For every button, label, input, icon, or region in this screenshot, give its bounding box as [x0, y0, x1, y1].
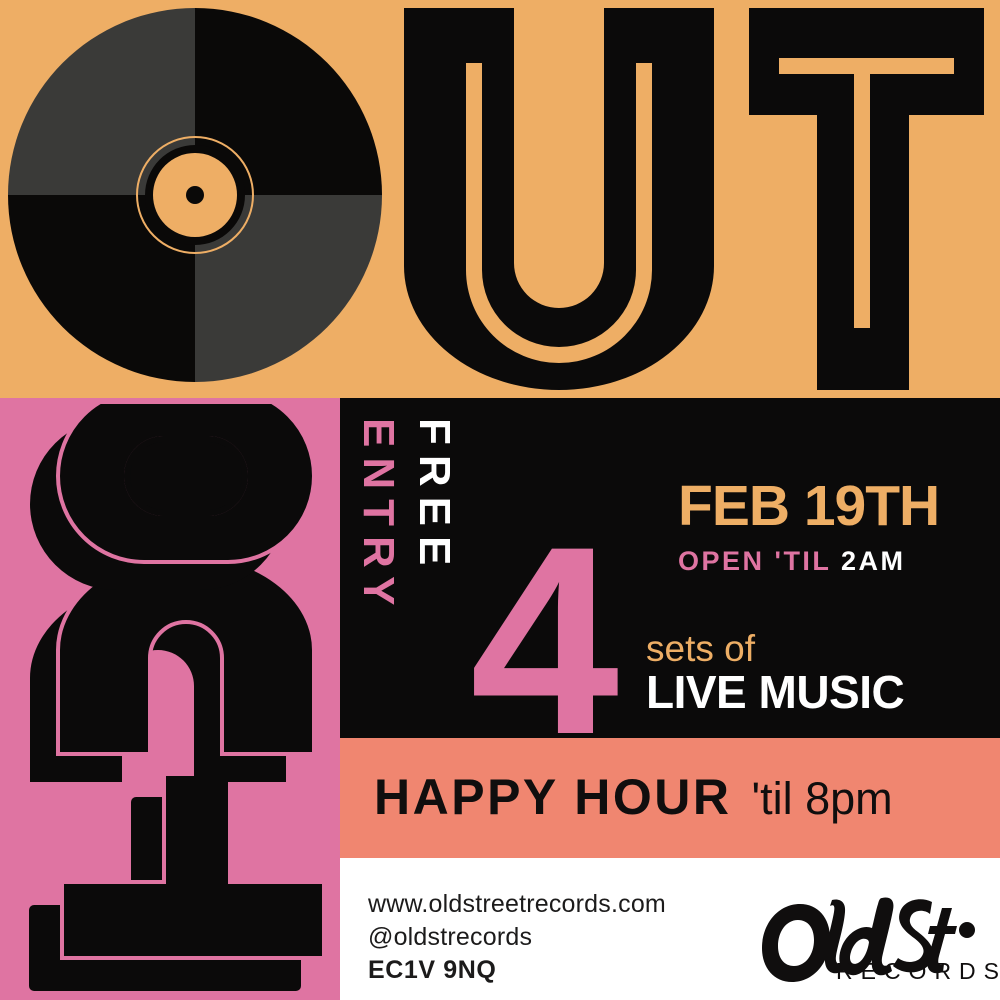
- vinyl-record-icon: [8, 8, 382, 382]
- footer-contact-block: www.oldstreetrecords.com @oldstrecords E…: [368, 888, 666, 987]
- free-label: FREE: [412, 418, 456, 575]
- event-date: FEB 19TH: [678, 478, 978, 535]
- website-link[interactable]: www.oldstreetrecords.com: [368, 888, 666, 921]
- social-handle[interactable]: @oldstrecords: [368, 921, 666, 954]
- poster-canvas: ENTRY FREE 4 FEB 19TH OPEN 'TIL 2AM sets…: [0, 0, 1000, 1000]
- free-entry-vertical-block: ENTRY FREE: [356, 418, 486, 718]
- open-til-label: OPEN 'TIL: [678, 546, 831, 576]
- live-music-block: sets of LIVE MUSIC: [646, 630, 904, 715]
- letter-t-glyph: [749, 8, 984, 390]
- happy-hour-row: HAPPY HOUR 'til 8pm: [374, 772, 893, 822]
- opening-hours: OPEN 'TIL 2AM: [678, 548, 978, 575]
- inverted-letter-o: [30, 404, 314, 590]
- postcode: EC1V 9NQ: [368, 954, 666, 987]
- entry-label: ENTRY: [356, 418, 400, 616]
- live-music-label: LIVE MUSIC: [646, 669, 904, 715]
- inverted-letter-t: [34, 774, 324, 986]
- close-time: 2AM: [841, 546, 906, 576]
- sets-count-number: 4: [470, 506, 613, 774]
- letter-u-glyph: [404, 8, 714, 390]
- happy-hour-time: 'til 8pm: [751, 776, 892, 821]
- old-st-records-logo: RECORDS: [756, 896, 976, 988]
- headline-letters-ut: [404, 8, 984, 390]
- logo-records-label: RECORDS: [836, 958, 1000, 985]
- headline-out-inverted: [4, 404, 334, 998]
- event-date-block: FEB 19TH OPEN 'TIL 2AM: [678, 478, 978, 575]
- happy-hour-label: HAPPY HOUR: [374, 772, 731, 822]
- sets-of-label: sets of: [646, 630, 904, 667]
